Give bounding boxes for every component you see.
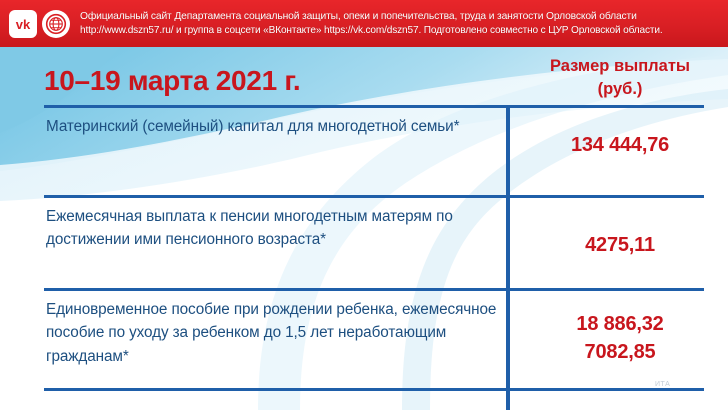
amount-header-line-2: (руб.) [512, 78, 728, 101]
globe-icon[interactable] [42, 10, 70, 38]
benefit-amount: 4275,11 [512, 231, 728, 259]
benefit-label: Единовременное пособие при рождении ребе… [46, 298, 498, 368]
poster-content: 10–19 марта 2021 г. Размер выплаты (руб.… [0, 47, 728, 410]
header-text-block: Официальный сайт Департамента социальной… [80, 10, 663, 38]
benefit-amount-value-secondary: 7082,85 [512, 338, 728, 366]
row-divider-2 [44, 288, 704, 291]
benefit-label: Материнский (семейный) капитал для много… [46, 115, 498, 138]
benefit-amount: 18 886,32 7082,85 [512, 310, 728, 366]
row-divider-top [44, 105, 704, 108]
logo-group: vk [9, 10, 70, 38]
benefit-amount-value-primary: 18 886,32 [576, 313, 663, 335]
benefit-amount: 134 444,76 [512, 131, 728, 159]
infographic-poster: vk Официальный сайт Департамента социаль… [0, 0, 728, 410]
amount-column-header: Размер выплаты (руб.) [512, 55, 728, 102]
page-title: 10–19 марта 2021 г. [44, 65, 300, 97]
svg-text:vk: vk [16, 17, 31, 31]
benefit-amount-value: 134 444,76 [571, 134, 669, 156]
row-divider-3 [44, 388, 704, 391]
vk-logo-icon[interactable]: vk [9, 10, 37, 38]
title-row: 10–19 марта 2021 г. Размер выплаты (руб.… [0, 47, 728, 105]
site-header-banner: vk Официальный сайт Департамента социаль… [0, 0, 728, 47]
header-department-line: Официальный сайт Департамента социальной… [80, 10, 663, 24]
column-divider [506, 105, 510, 410]
header-url-line: http://www.dszn57.ru/ и группа в соцсети… [80, 24, 663, 38]
row-divider-1 [44, 195, 704, 198]
benefit-label: Ежемесячная выплата к пенсии многодетным… [46, 205, 498, 252]
amount-header-line-1: Размер выплаты [512, 55, 728, 78]
benefit-amount-value: 4275,11 [585, 234, 655, 256]
watermark: ИТА [655, 381, 670, 388]
